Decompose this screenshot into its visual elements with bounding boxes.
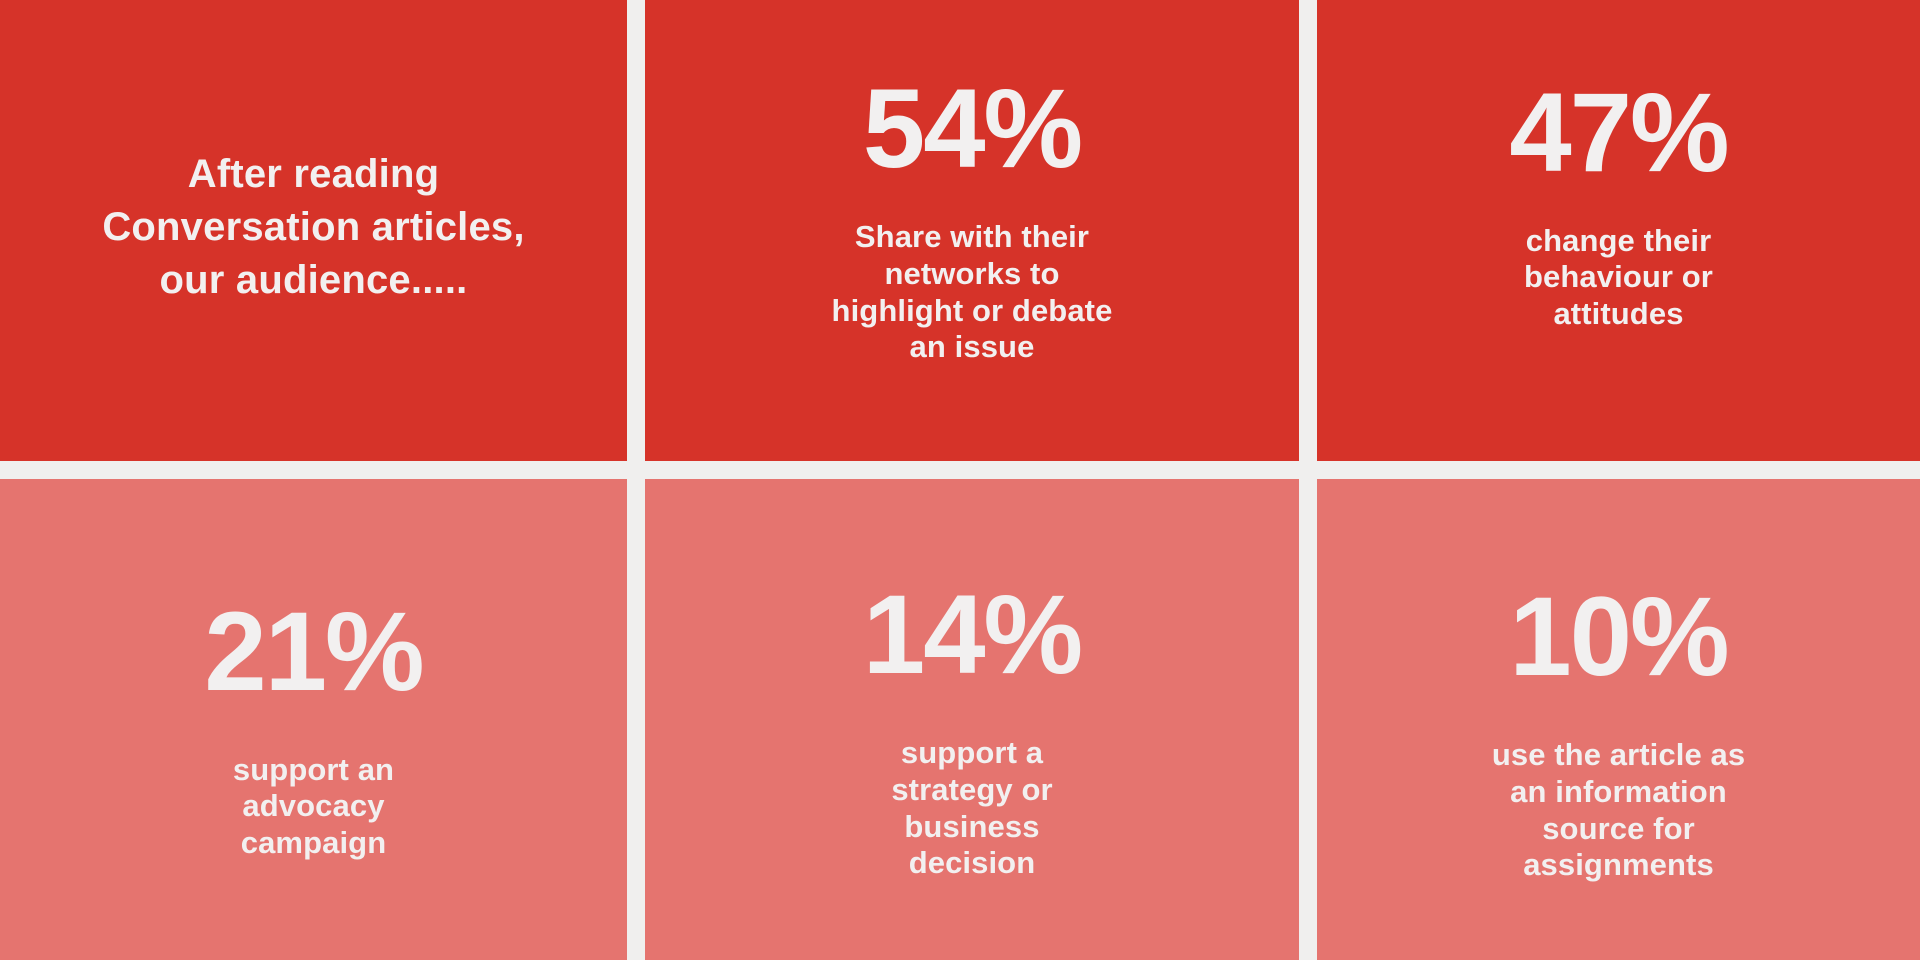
stat-caption-line: business xyxy=(891,809,1052,846)
stat-caption-line: behaviour or xyxy=(1524,259,1713,296)
stat-caption: support a strategy or business decision xyxy=(891,735,1052,881)
stat-value: 14% xyxy=(863,579,1081,691)
stat-caption-line: source for xyxy=(1492,811,1745,848)
stat-caption-line: attitudes xyxy=(1524,296,1713,333)
stat-caption-line: an information xyxy=(1492,774,1745,811)
stat-caption: use the article as an information source… xyxy=(1492,737,1745,883)
stat-caption-line: decision xyxy=(891,845,1052,882)
stat-card-share-networks: 54% Share with their networks to highlig… xyxy=(636,0,1308,470)
intro-heading: After reading Conversation articles, our… xyxy=(102,148,524,308)
stat-caption-line: support a xyxy=(891,735,1052,772)
stat-value: 21% xyxy=(204,596,422,708)
stat-card-support-strategy: 14% support a strategy or business decis… xyxy=(636,470,1308,960)
stat-value: 54% xyxy=(863,73,1081,185)
stat-caption-line: use the article as xyxy=(1492,737,1745,774)
stat-caption-line: an issue xyxy=(832,329,1113,366)
stat-caption-line: networks to xyxy=(832,256,1113,293)
stat-caption: Share with their networks to highlight o… xyxy=(832,219,1113,365)
intro-line-1: After reading xyxy=(102,148,524,201)
stat-caption-line: strategy or xyxy=(891,772,1052,809)
stat-caption: change their behaviour or attitudes xyxy=(1524,223,1713,333)
stats-infographic: After reading Conversation articles, our… xyxy=(0,0,1920,960)
stat-caption: support an advocacy campaign xyxy=(233,752,394,862)
intro-line-2: Conversation articles, xyxy=(102,201,524,254)
stat-caption-line: highlight or debate xyxy=(832,293,1113,330)
stat-caption-line: support an xyxy=(233,752,394,789)
stat-caption-line: Share with their xyxy=(832,219,1113,256)
stat-value: 10% xyxy=(1509,581,1727,693)
stat-card-information-source: 10% use the article as an information so… xyxy=(1308,470,1920,960)
intro-line-3: our audience..... xyxy=(102,254,524,307)
stat-caption-line: campaign xyxy=(233,825,394,862)
intro-panel: After reading Conversation articles, our… xyxy=(0,0,636,470)
stat-card-support-advocacy: 21% support an advocacy campaign xyxy=(0,470,636,960)
stat-caption-line: assignments xyxy=(1492,847,1745,884)
stat-card-change-behaviour: 47% change their behaviour or attitudes xyxy=(1308,0,1920,470)
stat-value: 47% xyxy=(1509,77,1727,189)
stat-caption-line: advocacy xyxy=(233,788,394,825)
stat-caption-line: change their xyxy=(1524,223,1713,260)
